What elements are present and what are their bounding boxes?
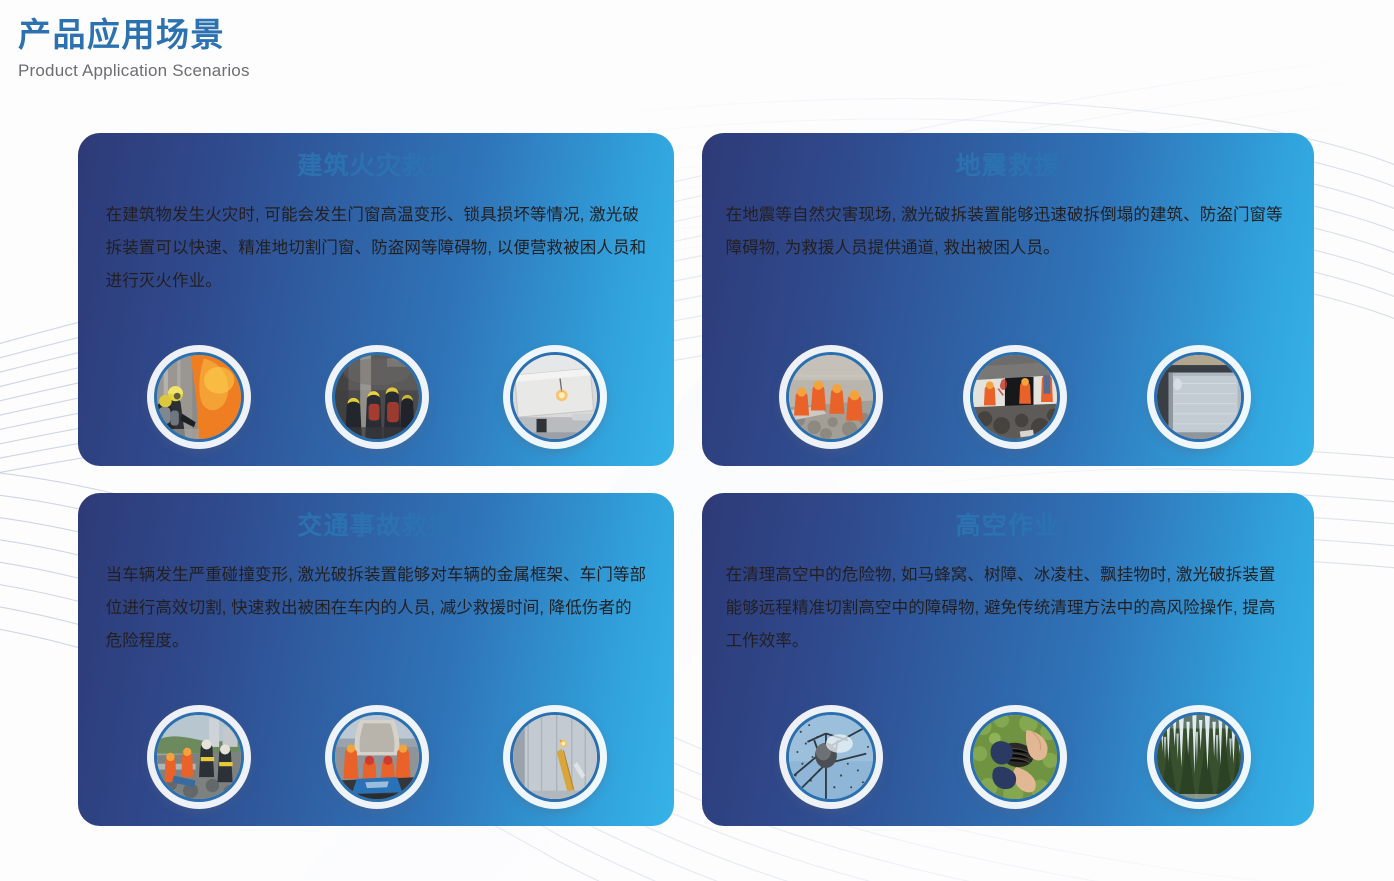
scenario-card-fire-photo-row: [80, 352, 673, 442]
security-window-frame-photo[interactable]: [1154, 352, 1244, 442]
scenario-card-traffic-body: 当车辆发生严重碰撞变形, 激光破拆装置能够对车辆的金属框架、车门等部位进行高效切…: [106, 559, 647, 658]
scenario-card-earthquake-title: 地震救援: [704, 151, 1313, 181]
scenario-card-aerial-work-photo-row: [704, 712, 1313, 802]
collapsed-building-entrance-photo[interactable]: [970, 352, 1060, 442]
scenario-card-earthquake-photo-row: [704, 352, 1313, 442]
scenario-card-traffic-photo-row: [80, 712, 673, 802]
page-title: 产品应用场景: [18, 16, 250, 54]
rescuers-searching-rubble-photo[interactable]: [786, 352, 876, 442]
photo-ring: [154, 352, 244, 442]
scenario-card-aerial-work-inner: 高空作业 在清理高空中的危险物, 如马蜂窝、树障、冰凌柱、飘挂物时, 激光破拆装…: [704, 495, 1313, 825]
scenario-card-fire[interactable]: 建筑火灾救援 在建筑物发生火灾时, 可能会发生门窗高温变形、锁具损坏等情况, 激…: [78, 133, 674, 466]
photo-ring: [786, 712, 876, 802]
laser-cutting-concrete-block-photo[interactable]: [510, 352, 600, 442]
firefighters-in-smoky-building-photo[interactable]: [332, 352, 422, 442]
laser-cutting-metal-panel-photo[interactable]: [510, 712, 600, 802]
photo-ring: [970, 352, 1060, 442]
application-scenarios-page: 产品应用场景 Product Application Scenarios 建筑火…: [0, 0, 1394, 881]
icicles-on-trees-photo[interactable]: [1154, 712, 1244, 802]
photo-ring: [970, 712, 1060, 802]
photo-ring: [786, 352, 876, 442]
photo-ring: [1154, 712, 1244, 802]
hands-holding-hive-comb-photo[interactable]: [970, 712, 1060, 802]
roadside-crash-rescue-photo[interactable]: [154, 712, 244, 802]
scenario-card-traffic-title: 交通事故救援: [80, 511, 673, 541]
scenario-card-fire-body: 在建筑物发生火灾时, 可能会发生门窗高温变形、锁具损坏等情况, 激光破拆装置可以…: [106, 199, 647, 298]
page-subtitle: Product Application Scenarios: [18, 61, 250, 81]
scenario-card-aerial-work-title: 高空作业: [704, 511, 1313, 541]
page-header: 产品应用场景 Product Application Scenarios: [18, 16, 250, 81]
scenario-card-earthquake-inner: 地震救援 在地震等自然灾害现场, 激光破拆装置能够迅速破拆倒塌的建筑、防盗门窗等…: [704, 135, 1313, 465]
scenario-card-traffic[interactable]: 交通事故救援 当车辆发生严重碰撞变形, 激光破拆装置能够对车辆的金属框架、车门等…: [78, 493, 674, 826]
photo-ring: [1154, 352, 1244, 442]
photo-ring: [332, 712, 422, 802]
scenario-card-aerial-work-body: 在清理高空中的危险物, 如马蜂窝、树障、冰凌柱、飘挂物时, 激光破拆装置能够远程…: [726, 559, 1291, 658]
scenario-card-earthquake-body: 在地震等自然灾害现场, 激光破拆装置能够迅速破拆倒塌的建筑、防盗门窗等障碍物, …: [726, 199, 1291, 265]
photo-ring: [332, 352, 422, 442]
vehicle-extrication-training-photo[interactable]: [332, 712, 422, 802]
scenario-card-fire-inner: 建筑火灾救援 在建筑物发生火灾时, 可能会发生门窗高温变形、锁具损坏等情况, 激…: [80, 135, 673, 465]
scenario-card-aerial-work[interactable]: 高空作业 在清理高空中的危险物, 如马蜂窝、树障、冰凌柱、飘挂物时, 激光破拆装…: [702, 493, 1314, 826]
scenario-card-fire-title: 建筑火灾救援: [80, 151, 673, 181]
scenario-card-traffic-inner: 交通事故救援 当车辆发生严重碰撞变形, 激光破拆装置能够对车辆的金属框架、车门等…: [80, 495, 673, 825]
firefighters-spraying-flames-photo[interactable]: [154, 352, 244, 442]
scenario-card-earthquake[interactable]: 地震救援 在地震等自然灾害现场, 激光破拆装置能够迅速破拆倒塌的建筑、防盗门窗等…: [702, 133, 1314, 466]
photo-ring: [510, 712, 600, 802]
photo-ring: [510, 352, 600, 442]
hornet-nest-on-power-tower-photo[interactable]: [786, 712, 876, 802]
photo-ring: [154, 712, 244, 802]
